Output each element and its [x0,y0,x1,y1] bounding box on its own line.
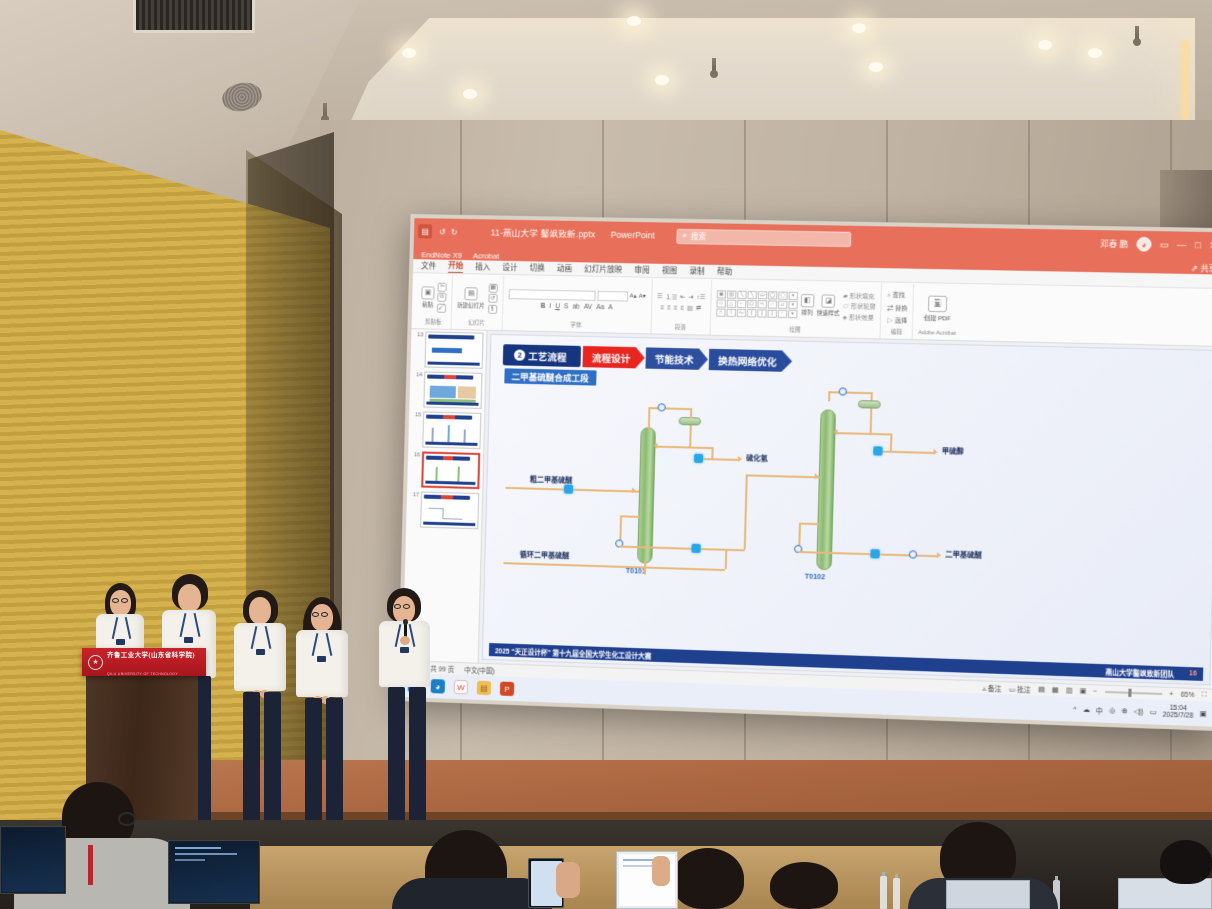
taskbar-clock[interactable]: 15:04 2025/7/28 [1162,706,1193,721]
institute-name: (山东省科学院) [148,652,195,659]
zoom-slider[interactable] [1105,691,1162,695]
stream-label-crude-dms: 粗二甲基硫醚 [530,474,573,485]
pipe-segment [648,407,650,429]
downlight [655,75,669,85]
ceiling-hanger [1135,26,1139,42]
water-bottle [893,878,900,909]
new-slide-label: 新建幻灯片 [457,301,485,310]
slide-thumbnail[interactable] [420,491,479,529]
downlight [1088,48,1102,58]
text-shadow-button[interactable]: ab [572,303,580,310]
paste-label: 粘贴 [422,300,433,308]
show-hidden-icons[interactable]: ^ [1073,706,1076,713]
ceiling-hanger [323,103,327,119]
list-item[interactable]: 13 [413,331,483,369]
pipe-segment [746,474,820,478]
ribbon-display-options-icon[interactable]: ▭ [1160,239,1169,250]
columns-icon[interactable]: ▥ [687,305,693,312]
decrease-indent-icon[interactable]: ⇤ [680,294,685,301]
powerpoint-window: ▤ ↺ ↻ 11-燕山大学 鏊飒致新.pptx PowerPoint ⌕ 搜索 … [402,218,1212,727]
notification-icon[interactable]: ▣ [1200,710,1207,718]
search-icon: ⌕ [682,231,687,241]
group-label-font: 字体 [570,321,581,330]
quick-access-toolbar[interactable]: ↺ ↻ [439,227,458,236]
cut-icon[interactable]: ✂ [437,282,446,291]
clock-date: 2025/7/28 [1162,712,1193,720]
font-size-input[interactable] [597,290,628,301]
shape-callout-icon[interactable]: ▱ [778,300,787,308]
network-icon[interactable]: ⊕ [1121,707,1127,715]
pipe-segment [619,546,645,548]
shape-circle-icon[interactable]: ○ [768,300,777,308]
judges-table [250,846,980,909]
stream-label-h2s: 硫化氢 [746,453,768,464]
slide-thumbnail[interactable] [423,371,482,408]
shape-arc-icon[interactable]: ◜ [778,309,787,317]
shape-more-icon[interactable]: ▾ [788,291,797,299]
quick-styles-label: 快速样式 [817,308,840,317]
fit-slide-icon[interactable]: ⛶ [1202,691,1207,699]
shape-rect-icon[interactable]: ▭ [758,291,767,299]
team-name: 燕山大学鏊飒致新团队 [1105,666,1174,679]
slide-sorter-icon[interactable]: ▦ [1052,686,1059,694]
downlight [869,62,883,72]
list-item[interactable]: 17 [409,491,479,529]
replace-button[interactable]: ⇄ 替换 [887,302,908,312]
maximize-button[interactable]: □ [1195,240,1201,250]
audience-6 [1160,840,1212,884]
new-slide-button[interactable]: ▤ 新建幻灯片 [457,287,485,310]
reading-view-icon[interactable]: ▥ [1066,686,1073,694]
section-icon[interactable]: § [488,304,497,313]
column-tag-t0102: T0102 [805,574,826,582]
slide-canvas-area[interactable]: 2 工艺流程 流程设计 节能技术 换热网络优化 二甲基硫醚合成工段 [479,331,1212,689]
flow-arrow [833,429,837,435]
group-label-editing: 编辑 [891,327,903,336]
arrange-icon: ◧ [801,293,815,306]
search-placeholder: 搜索 [691,231,707,242]
downlight [402,48,416,58]
pump-icon [691,544,700,553]
pump-icon [873,446,883,455]
pipe-segment [799,523,820,525]
downlight [463,89,477,99]
valve-icon [909,550,918,558]
shape-fill-icon[interactable]: ▰ 形状填充 [843,290,876,300]
projection-screen-frame: ▤ ↺ ↻ 11-燕山大学 鏊飒致新.pptx PowerPoint ⌕ 搜索 … [397,214,1212,731]
stream-label-methyl-mercaptan: 甲硫醇 [942,446,964,457]
notes-button[interactable]: ▵ 备注 [982,682,1001,693]
change-case-button[interactable]: Aa [596,303,604,310]
ceiling-speaker [133,0,255,33]
conference-hall-scene: ▤ ↺ ↻ 11-燕山大学 鏊飒致新.pptx PowerPoint ⌕ 搜索 … [0,0,1212,909]
undo-icon[interactable]: ↺ [439,227,446,236]
quick-styles-button[interactable]: ◪ 快速样式 [817,294,840,317]
flow-arrow [815,473,819,479]
shape-brace-left-icon[interactable]: { [747,309,756,317]
minimize-button[interactable]: — [1177,240,1187,250]
tab-view[interactable]: 视图 [662,265,678,276]
flow-arrow [933,449,937,455]
shape-bracket-icon[interactable]: [ [767,309,776,317]
find-button[interactable]: ⌕ 查找 [887,289,908,300]
tab-review[interactable]: 审阅 [634,264,650,275]
comments-button[interactable]: ▭ 批注 [1009,683,1031,694]
pump-icon [564,484,573,493]
decrease-font-icon[interactable]: A▾ [639,293,646,300]
bold-button[interactable]: B [540,302,545,309]
section-title-badge: 2 工艺流程 [503,344,581,367]
new-slide-icon: ▤ [465,287,478,300]
format-painter-icon[interactable]: 🖌 [437,303,446,312]
slide-page-number: 16 [1189,670,1197,677]
stream-label-recycle-dms: 循环二甲基硫醚 [520,550,570,562]
shape-textbox-icon[interactable]: ▣ [717,290,726,298]
competition-name: 2025 “天正设计杯” 第十九届全国大学生化工设计大赛 [495,645,652,660]
shape-chevron-icon[interactable]: ⇨ [757,300,766,308]
shape-pentagon-icon[interactable]: ⬠ [747,299,756,307]
save-icon[interactable]: ▤ [418,224,432,238]
ribbon-group-font: A▴ A▾ B I U S ab AV Aa A [502,276,652,333]
shape-expand-icon[interactable]: ▾ [788,309,797,317]
flow-arrow [738,456,742,462]
shape-gallery-more-icon[interactable]: ▾ [788,300,797,308]
align-left-icon[interactable]: ≡ [661,305,665,311]
share-icon: ⇗ [1191,264,1198,273]
slide-thumbnail[interactable] [422,411,481,449]
redo-icon[interactable]: ↻ [451,227,458,236]
slide-thumbnail-selected[interactable] [421,451,480,489]
tab-home[interactable]: 开始 [448,260,463,273]
group-label-slides: 幻灯片 [468,318,485,327]
pump-icon [694,454,703,463]
group-label-clipboard: 剪贴板 [425,317,442,326]
font-family-input[interactable] [508,289,595,301]
avatar[interactable]: ◕ [1136,237,1151,252]
reset-icon[interactable]: ↺ [488,294,497,303]
language-label[interactable]: 中文(中国) [464,664,495,675]
ribbon-group-acrobat: 🖺 创建 PDF Adobe Acrobat [913,284,963,340]
shape-rounded-icon[interactable]: ▢ [778,291,787,299]
thumbnail-number: 14 [413,371,422,378]
pipe-segment [824,552,938,557]
flow-arrow [632,487,636,493]
group-label-acrobat: Adobe Acrobat [918,330,956,338]
italic-button[interactable]: I [549,302,551,309]
university-name: 齐鲁工业大学 [107,652,148,659]
tab-animations[interactable]: 动画 [557,263,572,274]
powerpoint-workarea: 13 14 [403,329,1212,688]
shape-scribble-icon[interactable]: 〜 [737,308,746,316]
shape-effects-icon[interactable]: ◈ 形状效果 [842,312,875,322]
align-center-icon[interactable]: ≡ [667,305,671,311]
step-chevron-energy: 节能技术 [645,347,708,370]
tab-file[interactable]: 文件 [421,260,436,271]
paste-icon: ▣ [421,286,434,299]
thumbnail-number: 15 [412,411,421,418]
laptop [168,840,260,904]
edge-browser-icon[interactable]: ◕ [431,679,445,694]
slide-thumbnail[interactable] [424,331,483,368]
text-direction-icon[interactable]: ⇄ [696,305,701,312]
pipe-segment [648,407,691,410]
line-spacing-icon[interactable]: ↕☰ [697,294,706,301]
thumbnail-number: 17 [410,491,419,498]
font-color-button[interactable]: A [608,304,613,311]
ceiling-hanger [712,58,716,74]
security-icon[interactable]: ◎ [1109,706,1115,714]
step-chevron-active: 流程设计 [582,346,644,369]
search-box[interactable]: ⌕ 搜索 [676,228,851,246]
pump-icon [870,549,880,558]
increase-font-icon[interactable]: A▴ [629,293,636,300]
zoom-level-label: 65% [1181,691,1195,699]
shape-oval-icon[interactable]: ◯ [768,291,777,299]
tab-help[interactable]: 帮助 [717,266,733,277]
stream-label-dms-product: 二甲基硫醚 [945,549,982,560]
pipe-segment [689,425,691,447]
ribbon-group-paragraph: ☰ ⒈☰ ⇤ ⇥ ↕☰ ≡ ≡ ≡ ≡ ▥ [651,279,712,335]
flow-arrow [937,552,941,558]
downlight [852,23,866,33]
tab-slideshow[interactable]: 幻灯片放映 [584,263,622,275]
process-flow-diagram: T0101 T0102 [483,383,1212,662]
powerpoint-taskbar-icon[interactable]: P [500,682,514,697]
underline-button[interactable]: U [555,303,560,310]
align-right-icon[interactable]: ≡ [674,305,678,311]
tab-insert[interactable]: 插入 [475,261,490,272]
university-name-english: QILU UNIVERSITY OF TECHNOLOGY [107,672,178,676]
pipe-segment [744,474,748,549]
ribbon-group-editing: ⌕ 查找 ⇄ 替换 ▷ 选择 编辑 [881,283,914,339]
arrange-button[interactable]: ◧ 排列 [800,293,814,316]
condenser-t0102 [858,400,881,409]
character-spacing-button[interactable]: AV [584,303,592,310]
pipe-segment [870,408,872,432]
bullets-icon[interactable]: ☰ [657,293,663,300]
zoom-in-button[interactable]: + [1169,691,1173,698]
zoom-out-button[interactable]: − [1093,688,1097,695]
tab-acrobat[interactable]: Acrobat [473,251,499,261]
step-chevron-hen: 换热网络优化 [709,349,793,372]
section-number: 2 [514,349,525,360]
ribbon-group-clipboard: ▣ 粘贴 ✂ ⧉ 🖌 剪贴板 [415,274,452,329]
shape-square-icon[interactable]: □ [716,299,725,307]
thumbnail-number: 16 [411,451,420,458]
pipe-segment [503,562,724,571]
flow-arrow [653,443,657,449]
arrange-label: 排列 [801,308,813,316]
share-button[interactable]: ⇗ 共享 [1191,263,1212,275]
current-slide[interactable]: 2 工艺流程 流程设计 节能技术 换热网络优化 二甲基硫醚合成工段 [482,334,1212,685]
group-label-paragraph: 段落 [675,323,686,332]
shape-corner-icon[interactable]: ⌐ [737,299,746,307]
input-method-icon[interactable]: 中 [1096,705,1103,716]
water-bottle [880,876,887,909]
copy-icon[interactable]: ⧉ [437,293,446,302]
shape-picture-icon[interactable]: ▨ [727,290,736,298]
share-label: 共享 [1200,263,1212,275]
cloud-icon[interactable]: ☁ [1083,706,1090,714]
normal-view-icon[interactable]: ▤ [1038,685,1045,693]
shape-brace-right-icon[interactable]: } [757,309,766,317]
shape-line-icon[interactable]: ╲ [737,290,746,298]
shape-arrow-icon[interactable]: ╲ [747,290,756,298]
list-item[interactable]: 16 [410,451,480,489]
hand [556,862,580,898]
strikethrough-button[interactable]: S [564,303,569,310]
downlight [1038,40,1052,50]
shape-freeform-icon[interactable]: ⌇ [726,308,735,316]
pipe-segment [835,432,891,435]
shape-gallery[interactable]: ▣ ▨ ╲ ╲ ▭ ◯ ▢ ▾ □ △ ⌐ ⬠ [716,290,798,318]
user-name: 邓春 鹏 [1100,238,1128,250]
slideshow-icon[interactable]: ▣ [1079,687,1086,695]
valve-icon [839,387,847,395]
battery-icon[interactable]: ▭ [1150,708,1157,716]
hand [652,856,670,886]
create-pdf-button[interactable]: 🖺 创建 PDF [924,295,951,322]
pipe-segment [876,450,934,453]
group-label-drawing: 绘图 [789,325,801,334]
shape-outline-icon[interactable]: ▱ 形状轮廓 [843,301,876,311]
numbering-icon[interactable]: ⒈☰ [666,292,678,301]
pipe-segment [871,392,873,400]
shape-curve-icon[interactable]: ୯ [716,308,725,316]
app-name: PowerPoint [611,230,655,241]
select-button[interactable]: ▷ 选择 [887,315,908,325]
justify-icon[interactable]: ≡ [680,305,684,311]
quick-styles-icon: ◪ [822,294,836,307]
list-item[interactable]: 15 [411,411,481,449]
section-title: 工艺流程 [528,348,567,363]
ribbon-group-drawing: ▣ ▨ ╲ ╲ ▭ ◯ ▢ ▾ □ △ ⌐ ⬠ [710,280,882,338]
pipe-segment [828,391,871,394]
podium-banner: ★ 齐鲁工业大学(山东省科学院) QILU UNIVERSITY OF TECH… [82,648,206,676]
tab-record[interactable]: 录制 [689,265,705,276]
slide-navigation-chevrons: 2 工艺流程 流程设计 节能技术 换热网络优化 [503,344,1208,382]
projection-screen: ▤ ↺ ↻ 11-燕山大学 鏊飒致新.pptx PowerPoint ⌕ 搜索 … [402,218,1212,727]
create-pdf-icon: 🖺 [928,295,947,312]
university-seal-icon: ★ [88,655,103,670]
paste-button[interactable]: ▣ 粘贴 [421,286,435,308]
tab-design[interactable]: 设计 [502,262,517,273]
laptop [946,880,1030,909]
pipe-segment [620,515,640,517]
pipe-segment [690,408,692,418]
tab-transitions[interactable]: 切换 [529,262,544,273]
pipe-segment [890,433,892,451]
valve-icon [657,403,665,411]
downlight [627,16,641,26]
file-explorer-icon[interactable]: ▤ [477,681,491,696]
wps-writer-icon[interactable]: W [454,680,468,695]
thumbnail-number: 13 [414,331,423,338]
create-pdf-label: 创建 PDF [924,312,951,322]
layout-icon[interactable]: ▦ [488,283,497,292]
ribbon-group-slides: ▤ 新建幻灯片 ▦ ↺ § 幻灯片 [452,275,504,330]
pipe-segment [725,549,727,569]
pipe-segment [798,551,825,553]
pipe-segment [655,446,712,449]
shape-triangle-icon[interactable]: △ [727,299,736,307]
increase-indent-icon[interactable]: ⇥ [688,294,693,301]
laptop [0,826,66,894]
volume-icon[interactable]: ◁)) [1133,707,1143,716]
list-item[interactable]: 14 [412,371,482,409]
document-title: 11-燕山大学 鏊飒致新.pptx [491,226,596,240]
